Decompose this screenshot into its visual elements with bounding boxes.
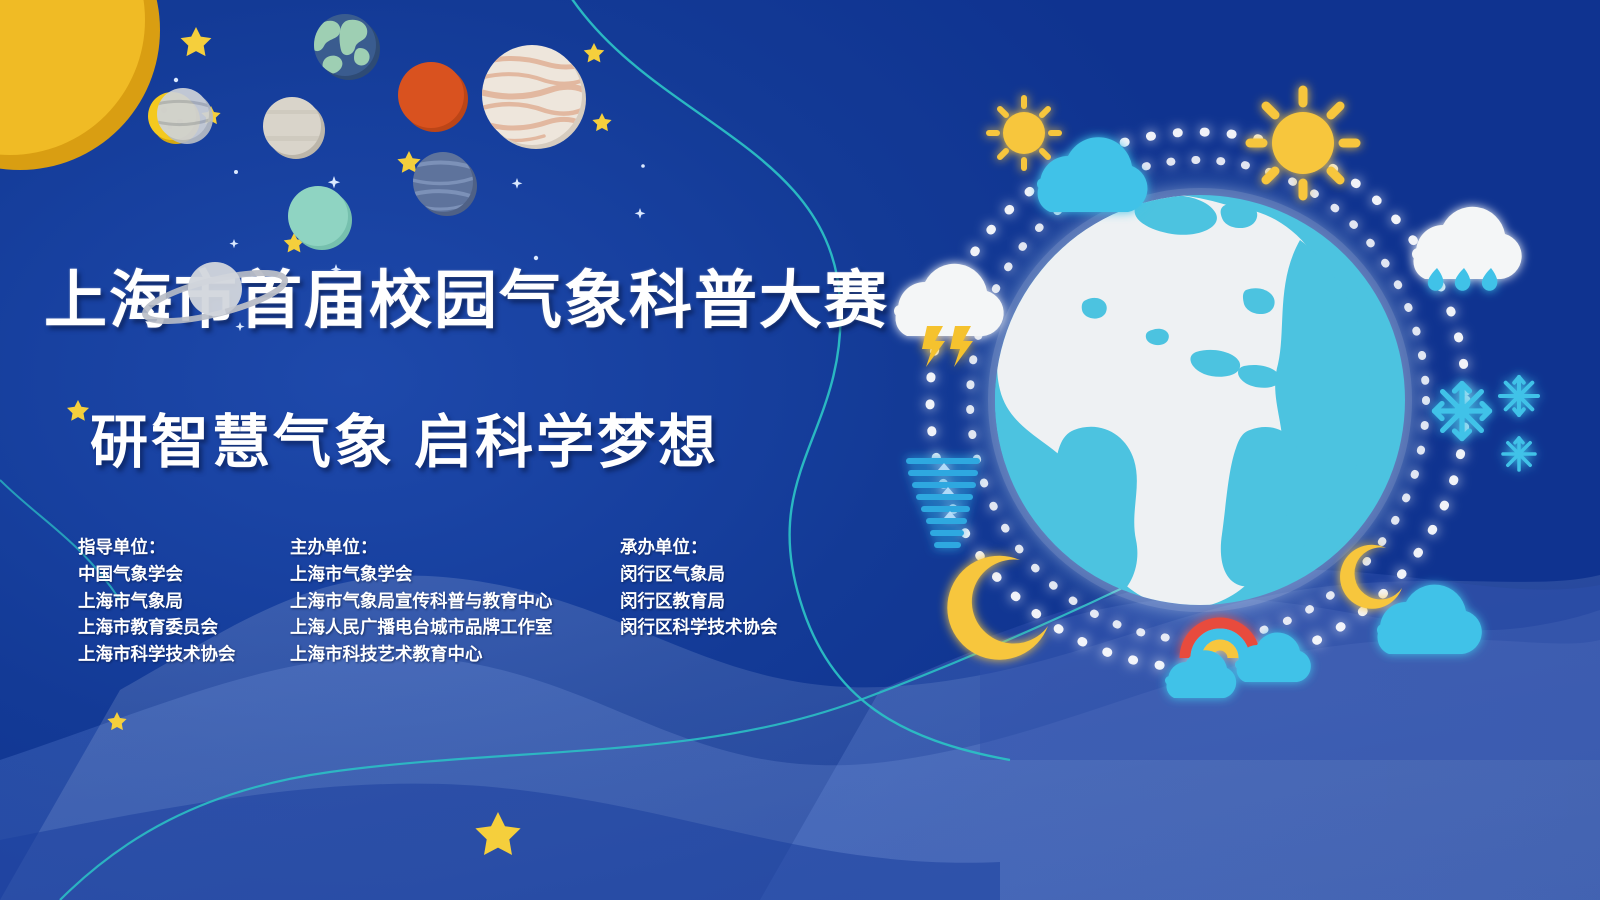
org-column-organizer: 承办单位： 闵行区气象局 闵行区教育局 闵行区科学技术协会 xyxy=(620,534,860,668)
org-item: 上海市气象局宣传科普与教育中心 xyxy=(290,588,620,615)
org-column-guidance: 指导单位： 中国气象学会 上海市气象局 上海市教育委员会 上海市科学技术协会 xyxy=(78,534,290,668)
org-item: 闵行区气象局 xyxy=(620,561,860,588)
page-subtitle: 研智慧气象 启科学梦想 xyxy=(90,395,719,479)
org-item: 中国气象学会 xyxy=(78,561,290,588)
sun-behind-cloud-icon xyxy=(989,98,1147,212)
org-item: 闵行区教育局 xyxy=(620,588,860,615)
org-item: 闵行区科学技术协会 xyxy=(620,614,860,641)
org-heading: 指导单位： xyxy=(78,534,290,561)
org-item: 上海市科学技术协会 xyxy=(78,641,290,668)
org-item: 上海市教育委员会 xyxy=(78,614,290,641)
rain-cloud-icon xyxy=(1412,207,1522,291)
org-heading: 承办单位： xyxy=(620,534,860,561)
cloud-icon xyxy=(1165,650,1236,698)
org-heading: 主办单位： xyxy=(290,534,620,561)
snowflake-icon xyxy=(1435,377,1539,470)
org-item: 上海市气象局 xyxy=(78,588,290,615)
sun-icon xyxy=(1250,90,1356,196)
org-item: 上海人民广播电台城市品牌工作室 xyxy=(290,614,620,641)
organizations-block: 指导单位： 中国气象学会 上海市气象局 上海市教育委员会 上海市科学技术协会 主… xyxy=(78,534,860,668)
poster-canvas: 上海市首届校园气象科普大赛 研智慧气象 启科学梦想 指导单位： 中国气象学会 上… xyxy=(0,0,1600,900)
org-item: 上海市科技艺术教育中心 xyxy=(290,641,620,668)
page-title: 上海市首届校园气象科普大赛 xyxy=(44,250,889,341)
org-item: 上海市气象学会 xyxy=(290,561,620,588)
org-column-host: 主办单位： 上海市气象学会 上海市气象局宣传科普与教育中心 上海人民广播电台城市… xyxy=(290,534,620,668)
